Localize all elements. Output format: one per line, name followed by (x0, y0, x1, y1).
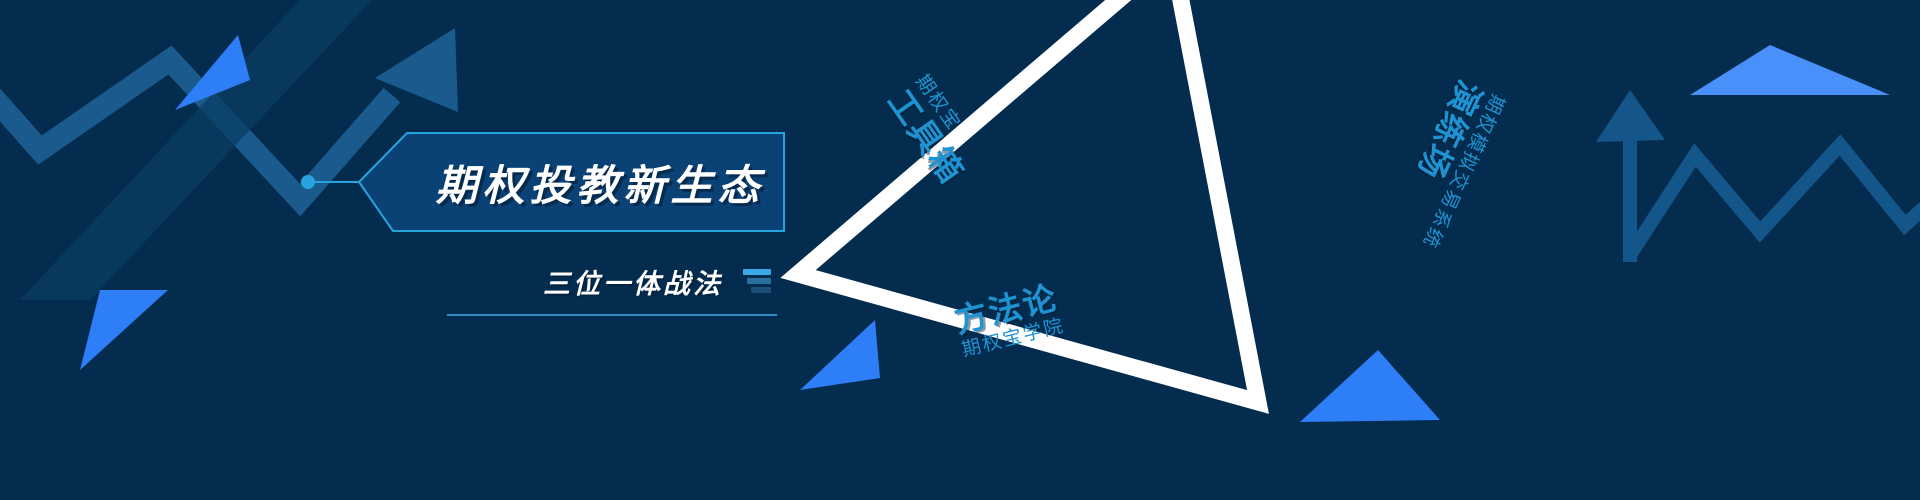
hero-banner: 期权投教新生态 三位一体战法 期权宝 工具箱 期权模拟交易系统 演练场 方法论 … (0, 0, 1920, 500)
connector-line (300, 166, 360, 198)
subtitle-divider (447, 314, 777, 316)
subtitle: 三位一体战法 (543, 262, 723, 301)
three-bars-icon (737, 268, 771, 294)
background-decoration (0, 0, 1920, 500)
title-banner: 期权投教新生态 (355, 132, 785, 232)
subtitle-block: 三位一体战法 (447, 258, 777, 316)
connector-dot-icon (301, 175, 315, 189)
page-title: 期权投教新生态 (415, 132, 785, 232)
